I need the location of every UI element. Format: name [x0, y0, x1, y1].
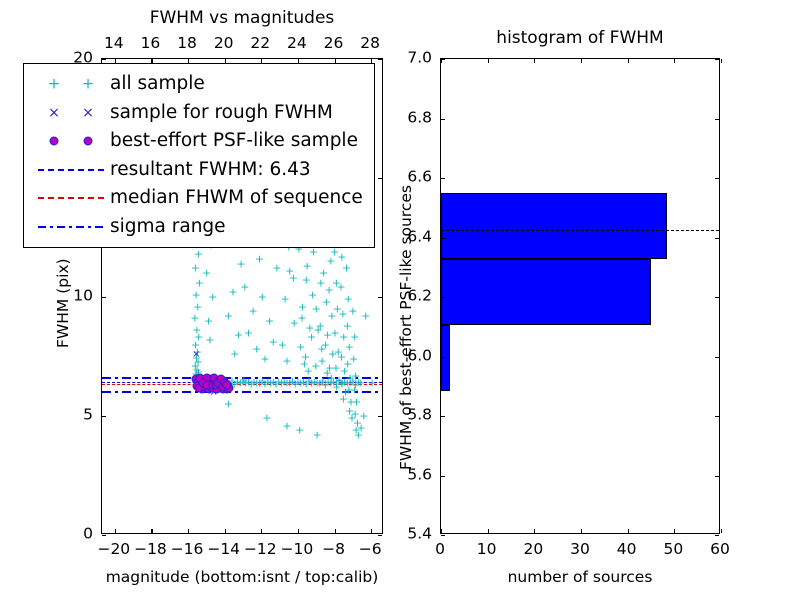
legend-key: ++: [32, 74, 110, 94]
scatter-marker-plus: +: [331, 363, 340, 374]
x-tick-bottom: [225, 529, 226, 533]
scatter-marker-plus: +: [265, 315, 274, 326]
scatter-marker-plus: +: [191, 339, 200, 350]
scatter-marker-plus: +: [352, 396, 361, 407]
scatter-marker-plus: +: [297, 313, 306, 324]
scatter-marker-circle: [217, 382, 226, 391]
scatter-marker-plus: +: [344, 294, 353, 305]
legend-key: [32, 217, 110, 237]
scatter-marker-plus: +: [346, 396, 355, 407]
y-tick-label: 5: [57, 407, 93, 423]
scatter-marker-plus: +: [255, 378, 264, 389]
scatter-marker-plus: +: [255, 253, 264, 264]
hist-y-tick-right: [715, 357, 719, 358]
scatter-marker-plus: +: [316, 320, 325, 331]
legend-key: [32, 131, 110, 151]
hist-x-tick-top: [628, 59, 629, 63]
scatter-marker-plus: +: [302, 275, 311, 286]
scatter-marker-x: ×: [192, 350, 200, 360]
x-tick-label-bottom: −8: [322, 542, 345, 558]
legend-key: [32, 188, 110, 208]
hist-x-tick: [628, 529, 629, 533]
scatter-marker-plus: +: [208, 292, 217, 303]
hist-x-tick-label: 60: [710, 542, 730, 558]
hist-y-tick-label: 6.8: [392, 110, 432, 126]
histogram-plot-area: [441, 59, 719, 533]
scatter-marker-circle: [193, 382, 202, 391]
scatter-marker-plus: +: [317, 344, 326, 355]
scatter-marker-plus: +: [312, 303, 321, 314]
histogram-bar: [441, 259, 651, 325]
hist-x-tick: [441, 529, 442, 533]
scatter-marker-plus: +: [224, 311, 233, 322]
scatter-marker-plus: +: [315, 378, 324, 389]
legend-label: best-effort PSF-like sample: [110, 132, 358, 151]
hist-y-tick-label: 6.4: [392, 229, 432, 245]
hist-x-tick-top: [534, 59, 535, 63]
hist-x-tick-label: 10: [477, 542, 497, 558]
scatter-marker-plus: +: [289, 272, 298, 283]
scatter-marker-plus: +: [330, 327, 339, 338]
hist-x-tick-label: 40: [617, 542, 637, 558]
y-tick-right: [378, 59, 382, 60]
reference-line-dashed: [102, 384, 382, 385]
legend-marker-circle: [50, 137, 59, 146]
scatter-marker-plus: +: [324, 284, 333, 295]
scatter-marker-circle: [223, 382, 232, 391]
scatter-marker-plus: +: [342, 263, 351, 274]
y-tick-right: [378, 416, 382, 417]
histogram-axes: [440, 58, 720, 534]
histogram-reference-line: [441, 230, 719, 231]
scatter-marker-plus: +: [252, 344, 261, 355]
scatter-marker-plus: +: [323, 330, 332, 341]
scatter-marker-plus: +: [326, 256, 335, 267]
histogram-xlabel: number of sources: [508, 570, 653, 586]
scatter-marker-plus: +: [350, 332, 359, 343]
legend-item: ++all sample: [32, 70, 364, 99]
scatter-marker-plus: +: [195, 277, 204, 288]
hist-x-tick-label: 20: [523, 542, 543, 558]
scatter-marker-plus: +: [237, 258, 246, 269]
scatter-marker-plus: +: [225, 378, 234, 389]
hist-y-tick: [441, 238, 445, 239]
legend-dashed-line: [38, 197, 104, 199]
hist-y-tick: [441, 297, 445, 298]
scatter-marker-plus: +: [361, 311, 370, 322]
legend-marker-x: ×: [82, 106, 94, 120]
scatter-marker-plus: +: [340, 365, 349, 376]
scatter-marker-plus: +: [192, 325, 201, 336]
y-tick-right: [378, 535, 382, 536]
reference-line-dashdot: [102, 391, 382, 393]
scatter-marker-plus: +: [334, 346, 343, 357]
hist-y-tick-right: [715, 416, 719, 417]
scatter-marker-plus: +: [316, 277, 325, 288]
scatter-marker-plus: +: [301, 351, 310, 362]
scatter-marker-plus: +: [338, 308, 347, 319]
x-tick-label-top: 28: [360, 36, 380, 52]
scatter-marker-plus: +: [354, 430, 363, 441]
hist-y-tick-right: [715, 238, 719, 239]
scatter-marker-plus: +: [194, 332, 203, 343]
hist-y-tick-right: [715, 59, 719, 60]
scatter-marker-plus: +: [357, 422, 366, 433]
hist-y-tick: [441, 476, 445, 477]
hist-x-tick: [674, 529, 675, 533]
scatter-marker-plus: +: [350, 384, 359, 395]
y-tick-left: [102, 297, 106, 298]
legend-marker-circle: [84, 137, 93, 146]
hist-y-tick-label: 5.4: [392, 526, 432, 542]
scatter-marker-plus: +: [317, 356, 326, 367]
x-tick-label-bottom: −18: [134, 542, 167, 558]
hist-x-tick-label: 0: [435, 542, 445, 558]
scatter-marker-plus: +: [343, 358, 352, 369]
scatter-marker-plus: +: [202, 268, 211, 279]
scatter-marker-plus: +: [193, 301, 202, 312]
scatter-marker-plus: +: [300, 358, 309, 369]
hist-y-tick-right: [715, 297, 719, 298]
scatter-marker-plus: +: [295, 425, 304, 436]
x-tick-label-top: 18: [177, 36, 197, 52]
y-tick-left: [102, 59, 106, 60]
histogram-bar: [441, 193, 667, 259]
legend-item: best-effort PSF-like sample: [32, 127, 364, 156]
x-tick-bottom: [151, 529, 152, 533]
x-tick-label-top: 16: [141, 36, 161, 52]
hist-y-tick: [441, 357, 445, 358]
reference-line-dashed: [102, 382, 382, 383]
x-tick-label-bottom: −10: [281, 542, 314, 558]
hist-y-tick-label: 6.2: [392, 288, 432, 304]
scatter-marker-plus: +: [296, 341, 305, 352]
x-tick-label-bottom: −6: [359, 542, 382, 558]
scatter-marker-plus: +: [347, 413, 356, 424]
hist-y-tick-right: [715, 476, 719, 477]
scatter-marker-plus: +: [272, 263, 281, 274]
hist-x-tick: [581, 529, 582, 533]
x-tick-label-bottom: −20: [97, 542, 130, 558]
scatter-marker-plus: +: [325, 363, 334, 374]
x-tick-label-top: 24: [287, 36, 307, 52]
legend-key: [32, 160, 110, 180]
x-tick-label-top: 20: [214, 36, 234, 52]
scatter-marker-plus: +: [345, 406, 354, 417]
hist-x-tick: [534, 529, 535, 533]
hist-y-tick: [441, 178, 445, 179]
hist-y-tick-label: 6.6: [392, 169, 432, 185]
x-tick-bottom: [371, 529, 372, 533]
x-tick-bottom: [298, 529, 299, 533]
scatter-marker-plus: +: [200, 378, 209, 389]
scatter-marker-plus: +: [234, 330, 243, 341]
plot-legend: ++all sample××sample for rough FWHMbest-…: [23, 63, 375, 248]
hist-x-tick-top: [488, 59, 489, 63]
legend-marker-plus: +: [48, 77, 61, 92]
scatter-marker-plus: +: [343, 320, 352, 331]
y-tick-left: [102, 535, 106, 536]
scatter-marker-plus: +: [336, 282, 345, 293]
scatter-marker-plus: +: [262, 413, 271, 424]
y-tick-label: 0: [57, 526, 93, 542]
scatter-marker-plus: +: [192, 352, 201, 363]
figure-canvas: ++++++++++++++++++++++++++++++++++++++++…: [0, 0, 800, 600]
hist-y-tick-right: [715, 119, 719, 120]
hist-y-tick: [441, 59, 445, 60]
scatter-marker-plus: +: [285, 265, 294, 276]
legend-item: resultant FWHM: 6.43: [32, 156, 364, 185]
legend-item: sigma range: [32, 213, 364, 242]
hist-y-tick-right: [715, 178, 719, 179]
scatter-marker-plus: +: [194, 366, 203, 377]
hist-y-tick: [441, 119, 445, 120]
scatter-marker-plus: +: [350, 408, 359, 419]
scatter-marker-x: ×: [205, 384, 213, 394]
scatter-marker-plus: +: [240, 282, 249, 293]
histogram-bar: [441, 325, 450, 390]
scatter-xlabel: magnitude (bottom:isnt / top:calib): [106, 570, 379, 586]
scatter-marker-plus: +: [351, 370, 360, 381]
legend-dashdot-line: [38, 226, 104, 228]
scatter-marker-x: ×: [209, 388, 217, 398]
hist-x-tick-label: 50: [663, 542, 683, 558]
legend-label: median FHWM of sequence: [110, 189, 363, 208]
scatter-marker-plus: +: [194, 249, 203, 260]
x-tick-bottom: [335, 529, 336, 533]
scatter-marker-plus: +: [224, 399, 233, 410]
scatter-marker-plus: +: [230, 349, 239, 360]
scatter-marker-plus: +: [282, 420, 291, 431]
hist-x-tick-top: [721, 59, 722, 63]
scatter-marker-plus: +: [282, 356, 291, 367]
scatter-marker-plus: +: [313, 430, 322, 441]
scatter-marker-plus: +: [327, 311, 336, 322]
scatter-marker-plus: +: [328, 349, 337, 360]
scatter-marker-circle: [199, 379, 208, 388]
legend-label: all sample: [110, 75, 205, 94]
scatter-marker-plus: +: [290, 318, 299, 329]
hist-y-tick-label: 6.0: [392, 348, 432, 364]
scatter-marker-plus: +: [321, 339, 330, 350]
scatter-marker-plus: +: [278, 339, 287, 350]
scatter-marker-plus: +: [298, 301, 307, 312]
scatter-marker-plus: +: [194, 357, 203, 368]
scatter-marker-plus: +: [281, 294, 290, 305]
scatter-marker-plus: +: [311, 361, 320, 372]
scatter-marker-plus: +: [337, 251, 346, 262]
scatter-marker-plus: +: [269, 337, 278, 348]
legend-marker-plus: +: [82, 77, 95, 92]
scatter-marker-plus: +: [332, 277, 341, 288]
scatter-marker-circle: [198, 382, 207, 391]
scatter-marker-plus: +: [191, 361, 200, 372]
scatter-marker-x: ×: [204, 378, 212, 388]
x-tick-bottom: [261, 529, 262, 533]
legend-dashed-line: [38, 169, 104, 171]
hist-x-tick-top: [581, 59, 582, 63]
scatter-marker-plus: +: [228, 287, 237, 298]
x-tick-bottom: [115, 529, 116, 533]
scatter-marker-plus: +: [322, 296, 331, 307]
hist-x-tick-top: [674, 59, 675, 63]
x-tick-bottom: [188, 529, 189, 533]
scatter-marker-plus: +: [190, 313, 199, 324]
x-tick-label-top: 14: [104, 36, 124, 52]
hist-x-tick-label: 30: [570, 542, 590, 558]
scatter-marker-plus: +: [346, 378, 355, 389]
reference-line-dashdot: [102, 377, 382, 379]
scatter-marker-plus: +: [319, 268, 328, 279]
scatter-marker-plus: +: [248, 306, 257, 317]
hist-y-tick: [441, 416, 445, 417]
scatter-plot-title: FWHM vs magnitudes: [150, 10, 335, 27]
legend-label: sample for rough FWHM: [110, 104, 333, 123]
scatter-marker-plus: +: [258, 292, 267, 303]
scatter-marker-plus: +: [192, 289, 201, 300]
legend-item: ××sample for rough FWHM: [32, 99, 364, 128]
scatter-marker-plus: +: [339, 394, 348, 405]
scatter-marker-plus: +: [352, 425, 361, 436]
scatter-marker-plus: +: [313, 325, 322, 336]
scatter-marker-plus: +: [191, 263, 200, 274]
y-tick-label: 10: [57, 288, 93, 304]
scatter-marker-plus: +: [204, 315, 213, 326]
scatter-marker-plus: +: [348, 306, 357, 317]
y-tick-right: [378, 178, 382, 179]
hist-y-tick-label: 7.0: [392, 50, 432, 66]
legend-label: sigma range: [110, 218, 226, 237]
histogram-plot-title: histogram of FWHM: [496, 30, 663, 47]
hist-y-tick-label: 5.6: [392, 467, 432, 483]
x-tick-label-bottom: −14: [207, 542, 240, 558]
x-tick-label-top: 22: [250, 36, 270, 52]
scatter-marker-plus: +: [307, 332, 316, 343]
scatter-marker-plus: +: [193, 346, 202, 357]
scatter-marker-plus: +: [205, 334, 214, 345]
hist-x-tick: [488, 529, 489, 533]
scatter-marker-plus: +: [244, 327, 253, 338]
hist-x-tick: [721, 529, 722, 533]
legend-item: median FHWM of sequence: [32, 184, 364, 213]
hist-y-tick-label: 5.8: [392, 407, 432, 423]
scatter-marker-circle: [207, 379, 216, 388]
scatter-marker-plus: +: [192, 364, 201, 375]
scatter-marker-plus: +: [349, 353, 358, 364]
y-tick-left: [102, 416, 106, 417]
legend-label: resultant FWHM: 6.43: [110, 161, 311, 180]
hist-y-tick: [441, 535, 445, 536]
x-tick-label-top: 26: [324, 36, 344, 52]
legend-key: ××: [32, 103, 110, 123]
scatter-marker-plus: +: [304, 365, 313, 376]
scatter-marker-plus: +: [333, 303, 342, 314]
y-tick-right: [378, 297, 382, 298]
scatter-marker-plus: +: [353, 418, 362, 429]
legend-marker-x: ×: [48, 106, 60, 120]
hist-y-tick-right: [715, 535, 719, 536]
scatter-marker-plus: +: [337, 351, 346, 362]
scatter-marker-plus: +: [285, 378, 294, 389]
scatter-marker-plus: +: [339, 332, 348, 343]
scatter-marker-plus: +: [344, 384, 353, 395]
x-tick-label-bottom: −12: [244, 542, 277, 558]
scatter-marker-plus: +: [359, 411, 368, 422]
scatter-marker-plus: +: [302, 261, 311, 272]
scatter-marker-plus: +: [260, 353, 269, 364]
scatter-marker-plus: +: [345, 341, 354, 352]
x-tick-label-bottom: −16: [171, 542, 204, 558]
scatter-marker-plus: +: [308, 289, 317, 300]
scatter-marker-plus: +: [305, 322, 314, 333]
